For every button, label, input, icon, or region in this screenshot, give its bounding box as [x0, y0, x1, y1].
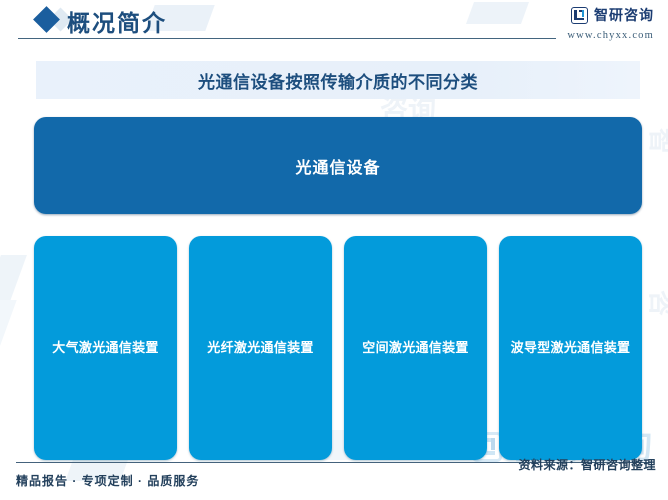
chart-title: 光通信设备按照传输介质的不同分类 [198, 68, 478, 93]
page-title: 概况简介 [67, 4, 167, 38]
leaf-node-1: 大气激光通信装置 [34, 236, 177, 460]
leaf-node-4: 波导型激光通信装置 [499, 236, 642, 460]
root-node-label: 光通信设备 [295, 154, 380, 178]
brand-logo: 智研咨询 [571, 5, 654, 25]
zhiyan-logo-icon [571, 7, 588, 24]
leaf-node-label: 空间激光通信装置 [362, 339, 468, 358]
chart-title-bar: 光通信设备按照传输介质的不同分类 [36, 61, 640, 99]
leaf-node-row: 大气激光通信装置 光纤激光通信装置 空间激光通信装置 波导型激光通信装置 [34, 236, 642, 460]
brand-name: 智研咨询 [594, 5, 654, 25]
leaf-node-label: 光纤激光通信装置 [207, 339, 313, 358]
footer-slogan: 精品报告 · 专项定制 · 品质服务 [16, 472, 199, 489]
header-divider [18, 38, 556, 39]
leaf-node-3: 空间激光通信装置 [344, 236, 487, 460]
footer-source: 资料来源：智研咨询整理 [518, 456, 656, 473]
leaf-node-2: 光纤激光通信装置 [189, 236, 332, 460]
leaf-node-label: 大气激光通信装置 [52, 339, 158, 358]
diagram-content: 光通信设备按照传输介质的不同分类 光通信设备 大气激光通信装置 光纤激光通信装置… [0, 0, 668, 500]
brand-url: www.chyxx.com [567, 30, 654, 41]
page-footer: 精品报告 · 专项定制 · 品质服务 资料来源：智研咨询整理 [0, 454, 668, 500]
page-header: 概况简介 智研咨询 www.chyxx.com [0, 0, 668, 48]
root-node: 光通信设备 [34, 117, 642, 214]
leaf-node-label: 波导型激光通信装置 [511, 339, 631, 358]
